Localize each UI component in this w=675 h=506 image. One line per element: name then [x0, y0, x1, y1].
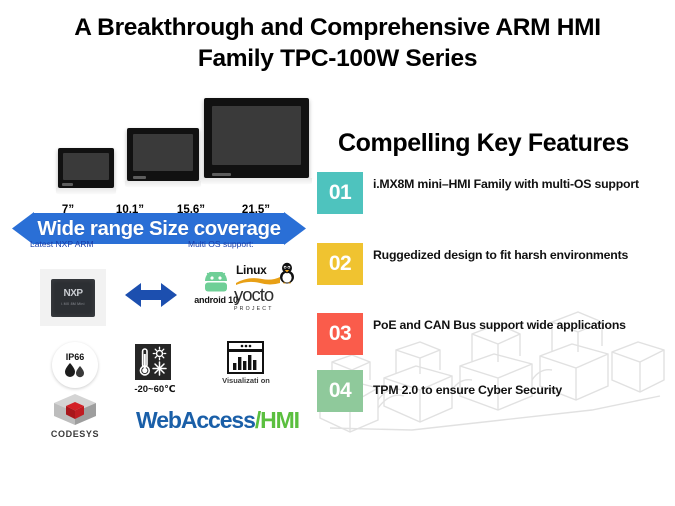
ip66-label: IP66	[66, 353, 85, 362]
panel-pc-21in-large	[204, 98, 309, 178]
screen	[212, 106, 301, 165]
ip66-badge: IP66	[52, 342, 98, 388]
feature-badge-02: 02	[317, 243, 363, 285]
yocto-project-logo: yocto PROJECT	[234, 286, 304, 312]
feature-badge-03: 03	[317, 313, 363, 355]
page-title: A Breakthrough and Comprehensive ARM HMI…	[0, 12, 675, 75]
brand-mark	[212, 173, 231, 176]
chip-die: NXP i.MX 8M Mini	[51, 279, 95, 317]
page-title-line-1: A Breakthrough and Comprehensive ARM HMI	[0, 12, 675, 43]
feature-text-04: TPM 2.0 to ensure Cyber Security	[373, 382, 665, 398]
stand	[125, 181, 201, 187]
features-heading: Compelling Key Features	[338, 129, 668, 158]
caption-latest-nxp-arm: Latest NXP ARM	[30, 239, 94, 249]
chip-subtext: i.MX 8M Mini	[61, 302, 84, 306]
chip-name: NXP	[63, 289, 82, 299]
codesys-label: CODESYS	[38, 429, 112, 439]
caption-multi-os-support: Multi OS support:	[188, 239, 254, 249]
yocto-subtext: PROJECT	[234, 306, 304, 312]
yocto-wordmark: yocto	[234, 286, 304, 305]
nxp-chip-photo: NXP i.MX 8M Mini	[40, 269, 106, 326]
temperature-range-icon	[135, 344, 171, 380]
feature-badge-04: 04	[317, 370, 363, 412]
tux-penguin-icon	[278, 262, 296, 284]
page-title-line-2: Family TPC-100W Series	[0, 43, 675, 74]
screen	[133, 134, 193, 171]
brand-mark	[133, 176, 146, 179]
linux-wordmark: Linux	[236, 263, 267, 277]
codesys-logo: CODESYS	[38, 392, 112, 439]
stand	[201, 178, 312, 184]
webaccess-hmi-logo: WebAccess/HMI	[136, 407, 299, 434]
visualization-icon	[227, 341, 264, 374]
stand	[56, 188, 115, 194]
hmi-wordmark: /HMI	[255, 407, 299, 433]
feature-text-02: Ruggedized design to fit harsh environme…	[373, 247, 665, 263]
feature-text-03: PoE and CAN Bus support wide application…	[373, 317, 665, 333]
panel-pc-10in	[127, 128, 199, 181]
feature-text-01: i.MX8M mini–HMI Family with multi-OS sup…	[373, 176, 665, 192]
android-robot-icon	[201, 272, 231, 294]
feature-badge-01: 01	[317, 172, 363, 214]
brand-mark	[62, 183, 72, 186]
water-droplets-icon	[62, 362, 88, 378]
webaccess-wordmark: WebAccess	[136, 407, 255, 433]
bidirectional-arrow-icon	[125, 281, 177, 309]
linux-logo: Linux	[236, 263, 298, 285]
codesys-cube-icon	[50, 392, 100, 428]
screen	[63, 153, 109, 180]
slide-canvas: A Breakthrough and Comprehensive ARM HMI…	[0, 0, 675, 506]
panel-pc-7in	[58, 148, 114, 188]
temperature-range-label: -20~60℃	[125, 384, 185, 395]
visualization-label: Visualizati on	[216, 377, 276, 386]
